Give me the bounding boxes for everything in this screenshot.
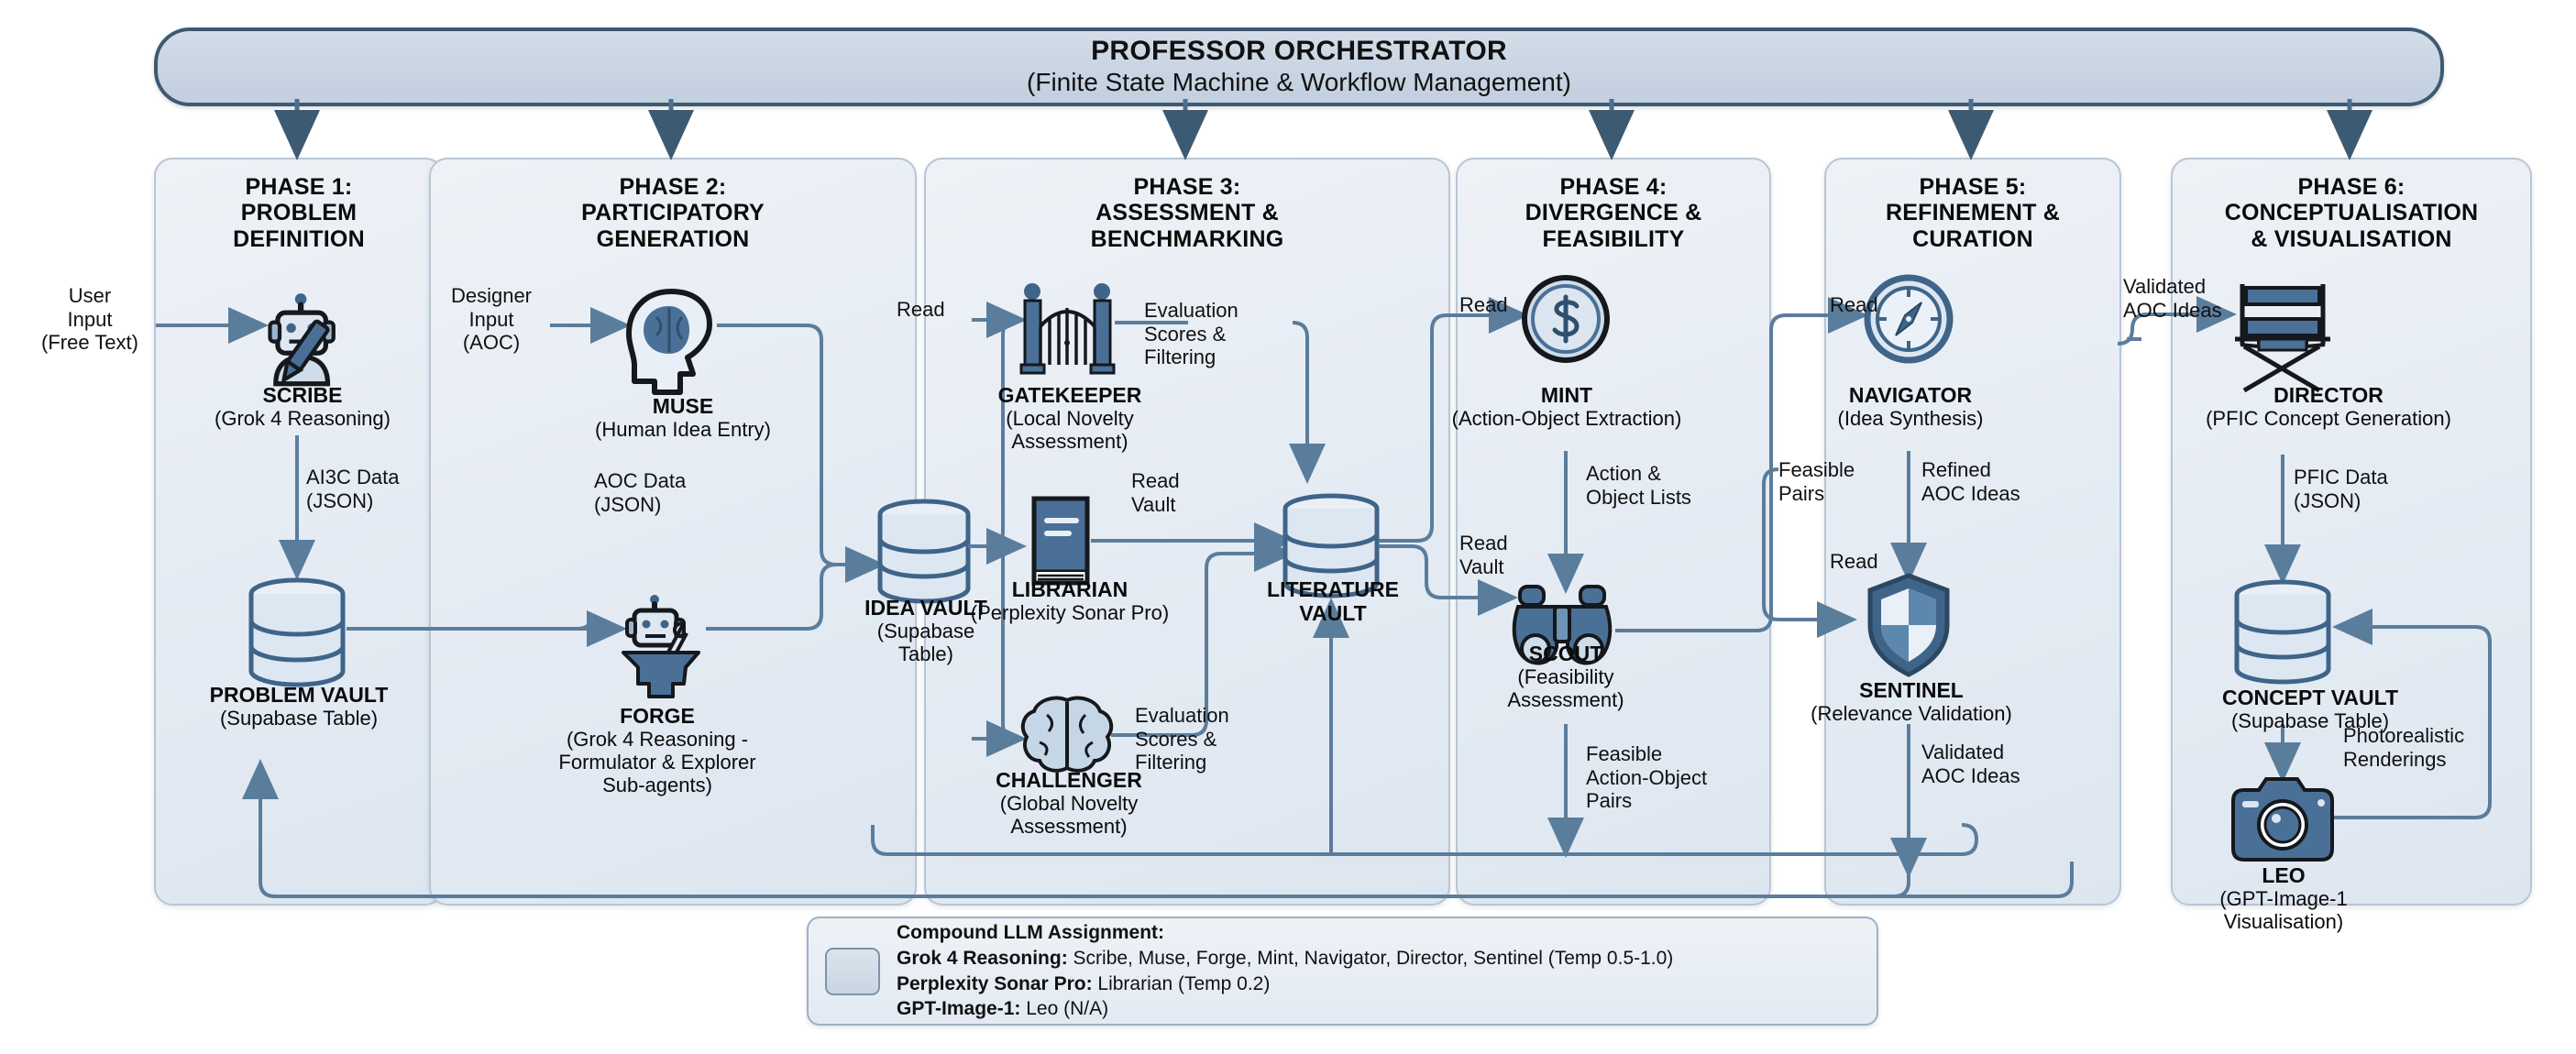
edge-label-read-vault-p3: Read Vault [1131,469,1250,516]
edge-label-designer-input: Designer Input (AOC) [427,284,556,355]
edge-label-eval-scores-bottom: Evaluation Scores & Filtering [1135,704,1309,774]
legend-heading: Compound LLM Assignment: [897,922,1164,943]
navigator-label: NAVIGATOR (Idea Synthesis) [1808,383,2013,430]
edge-label-read-p3: Read [897,298,979,322]
phase-5-title: PHASE 5: REFINEMENT & CURATION [1826,174,2119,252]
edge-label-user-input: User Input (Free Text) [18,284,161,355]
orchestrator-drop-lines [297,99,2350,151]
edge-label-action-object-lists: Action & Object Lists [1586,462,1769,509]
gatekeeper-label: GATEKEEPER (Local Novelty Assessment) [952,383,1188,453]
edge-label-validated-aoc-in: Validated AOC Ideas [2123,275,2306,322]
mint-label: MINT (Action-Object Extraction) [1447,383,1687,430]
director-label: DIRECTOR (PFIC Concept Generation) [2173,383,2484,430]
edge-label-photorealistic-renderings: Photorealistic Renderings [2343,724,2563,771]
edge-label-refined-aoc: Refined AOC Ideas [1921,458,2105,505]
forge-label: FORGE (Grok 4 Reasoning - Formulator & E… [510,704,805,796]
literature-vault-label: LITERATURE VAULT [1236,577,1430,625]
leo-label: LEO (GPT-Image-1 Visualisation) [2184,863,2383,933]
librarian-label: LIBRARIAN (Perplexity Sonar Pro) [919,577,1221,624]
edge-label-read-p5b: Read [1830,550,1912,574]
edge-label-validated-aoc-out: Validated AOC Ideas [1921,741,2105,787]
challenger-label: CHALLENGER (Global Novelty Assessment) [944,768,1194,838]
phase-4-title: PHASE 4: DIVERGENCE & FEASIBILITY [1458,174,1769,252]
legend-row1-value: Scribe, Muse, Forge, Mint, Navigator, Di… [1068,948,1674,969]
sentinel-label: SENTINEL (Relevance Validation) [1797,678,2026,725]
edge-label-feasible-pairs: Feasible Pairs [1778,458,1916,505]
legend-row2-key: Perplexity Sonar Pro: [897,973,1093,994]
edge-label-aoc-data: AOC Data (JSON) [594,469,768,516]
legend-row2-value: Librarian (Temp 0.2) [1093,973,1271,994]
workflow-diagram: PROFESSOR ORCHESTRATOR (Finite State Mac… [0,0,2576,1054]
phase-5-card[interactable]: PHASE 5: REFINEMENT & CURATION [1824,158,2121,906]
legend-text: Compound LLM Assignment: Grok 4 Reasonin… [897,920,1673,1023]
phase-1-title: PHASE 1: PROBLEM DEFINITION [156,174,442,252]
legend-row3-value: Leo (N/A) [1020,998,1108,1019]
edge-label-read-p5: Read [1830,293,1912,317]
legend-row3-key: GPT-Image-1: [897,998,1020,1019]
phase-6-card[interactable]: PHASE 6: CONCEPTUALISATION & VISUALISATI… [2171,158,2532,906]
legend-swatch-icon [825,948,880,995]
phase-6-title: PHASE 6: CONCEPTUALISATION & VISUALISATI… [2173,174,2530,252]
edge-label-feasible-action-object-pairs: Feasible Action-Object Pairs [1586,742,1769,813]
legend-box: Compound LLM Assignment: Grok 4 Reasonin… [807,917,1878,1026]
problem-vault-label: PROBLEM VAULT (Supabase Table) [163,683,435,730]
professor-orchestrator-bar: PROFESSOR ORCHESTRATOR (Finite State Mac… [154,27,2444,106]
edge-label-eval-scores-top: Evaluation Scores & Filtering [1144,299,1318,369]
edge-label-read-p4: Read [1459,293,1542,317]
edge-label-ai3c-data: AI3C Data (JSON) [306,466,471,512]
edge-label-pfic-data: PFIC Data (JSON) [2294,466,2459,512]
scout-label: SCOUT (Feasibility Assessment) [1463,642,1668,711]
orchestrator-title: PROFESSOR ORCHESTRATOR [1091,37,1507,66]
orchestrator-subtitle: (Finite State Machine & Workflow Managem… [1027,68,1571,97]
phase-2-title: PHASE 2: PARTICIPATORY GENERATION [431,174,915,252]
phase-1-card[interactable]: PHASE 1: PROBLEM DEFINITION [154,158,444,906]
muse-label: MUSE (Human Idea Entry) [550,394,816,441]
edge-label-read-vault-p4: Read Vault [1459,532,1569,578]
legend-row1-key: Grok 4 Reasoning: [897,948,1068,969]
scribe-label: SCRIBE (Grok 4 Reasoning) [193,383,413,430]
phase-3-title: PHASE 3: ASSESSMENT & BENCHMARKING [926,174,1448,252]
